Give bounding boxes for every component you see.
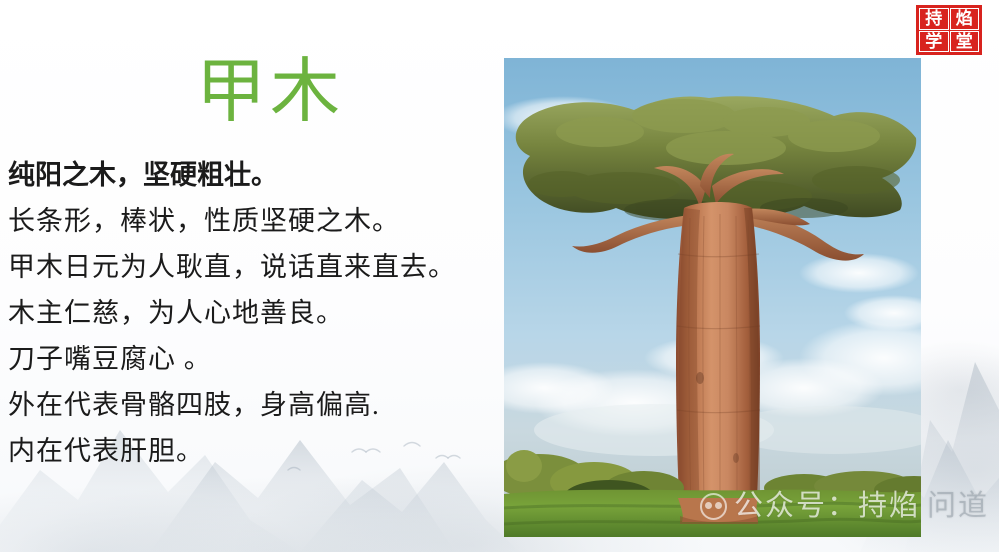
baobab-tree-photo bbox=[504, 58, 921, 537]
body-line: 纯阳之木，坚硬粗壮。 bbox=[8, 152, 508, 198]
body-line: 刀子嘴豆腐心 。 bbox=[8, 336, 508, 382]
body-line: 木主仁慈，为人心地善良。 bbox=[8, 290, 508, 336]
slide-canvas: 持 焰 学 堂 甲木 纯阳之木，坚硬粗壮。 长条形，棒状，性质坚硬之木。 甲木日… bbox=[0, 0, 999, 552]
page-title: 甲木 bbox=[196, 58, 344, 128]
seal-char-1: 持 bbox=[919, 8, 949, 30]
body-line: 内在代表肝胆。 bbox=[8, 428, 508, 474]
body-line: 甲木日元为人耿直，说话直来直去。 bbox=[8, 244, 508, 290]
body-line: 长条形，棒状，性质坚硬之木。 bbox=[8, 198, 508, 244]
body-text-block: 纯阳之木，坚硬粗壮。 长条形，棒状，性质坚硬之木。 甲木日元为人耿直，说话直来直… bbox=[8, 152, 508, 474]
watermark-text-tail: 问道 bbox=[927, 492, 989, 521]
seal-stamp: 持 焰 学 堂 bbox=[916, 5, 982, 55]
seal-char-4: 堂 bbox=[950, 31, 980, 53]
seal-char-2: 焰 bbox=[950, 8, 980, 30]
seal-char-3: 学 bbox=[919, 31, 949, 53]
body-line: 外在代表骨骼四肢，身高偏高. bbox=[8, 382, 508, 428]
